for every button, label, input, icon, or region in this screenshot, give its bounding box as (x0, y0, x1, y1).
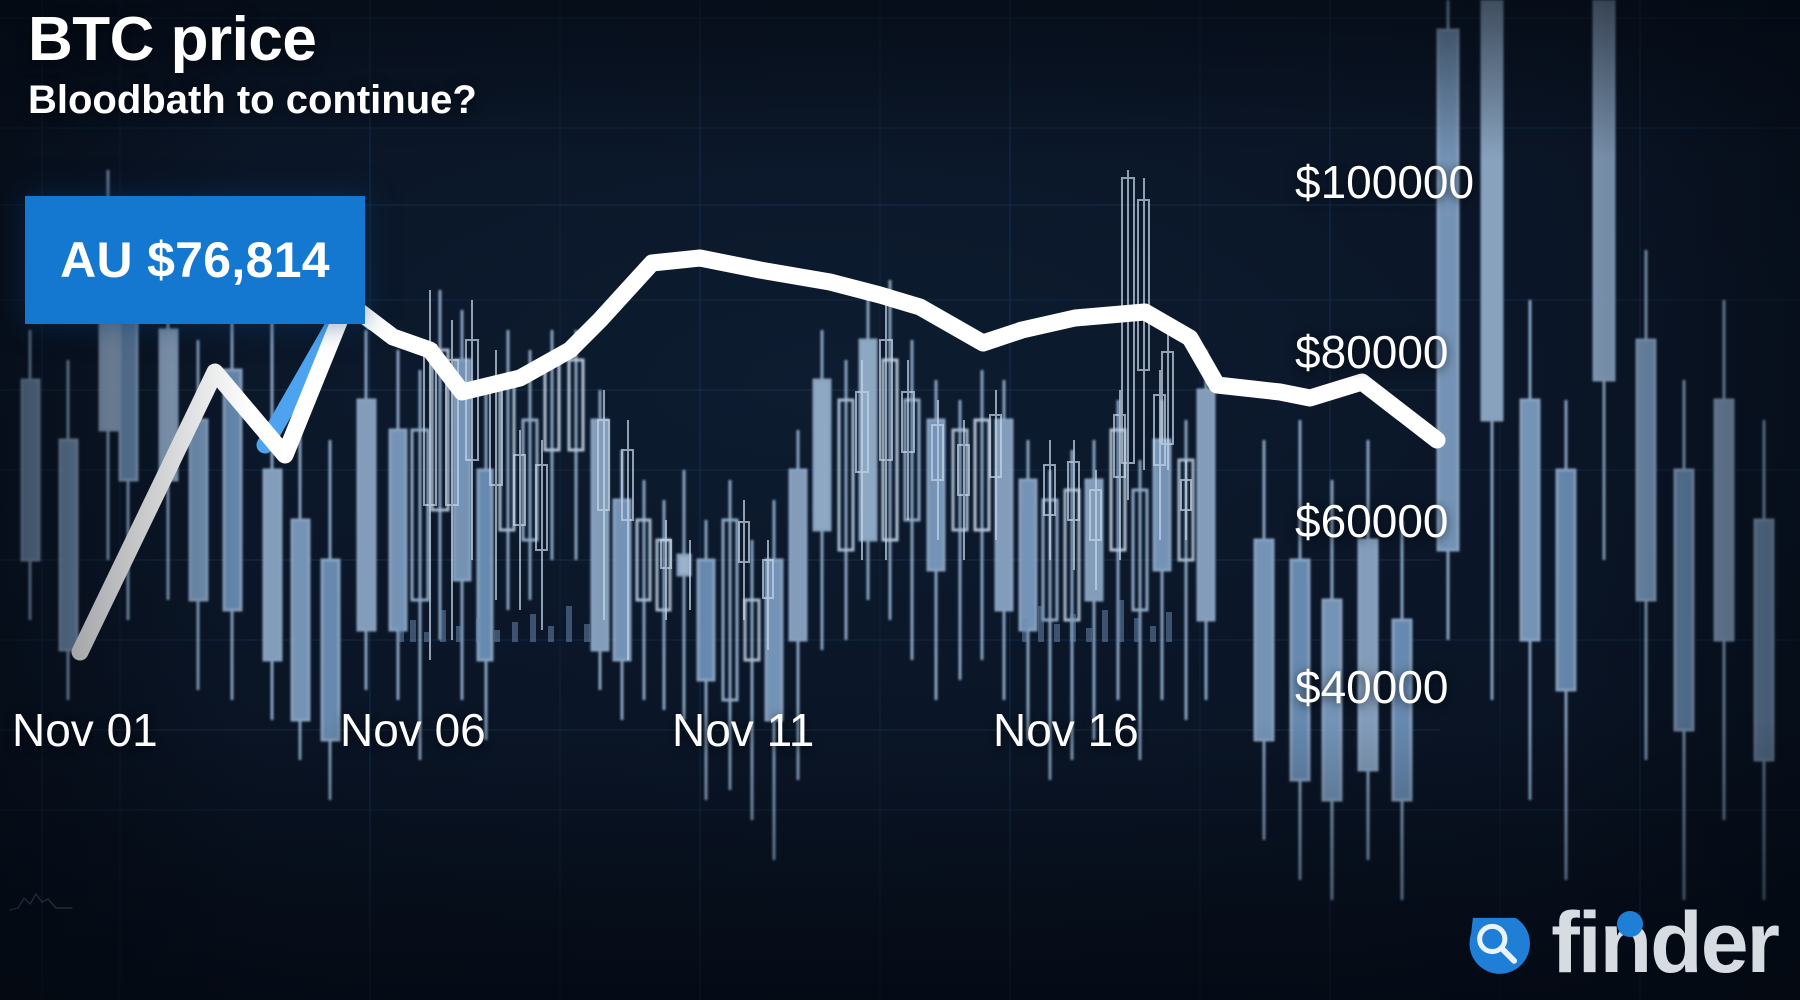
finder-logo: finder (1457, 902, 1778, 986)
btc-price-chart-image: BTC price Bloodbath to continue? AU $76,… (0, 0, 1800, 1000)
mini-sparkline-icon (8, 888, 74, 914)
page-subtitle: Bloodbath to continue? (28, 78, 477, 122)
y-axis-label-60000: $60000 (1295, 494, 1449, 548)
y-axis-label-80000: $80000 (1295, 325, 1449, 379)
price-callout-badge: AU $76,814 (25, 196, 365, 324)
price-callout-value: AU $76,814 (60, 231, 330, 289)
x-axis-label-nov-01: Nov 01 (12, 703, 158, 757)
finder-dot-icon (1615, 909, 1645, 939)
finder-wordmark-text: finder (1551, 895, 1778, 991)
y-axis-label-40000: $40000 (1295, 660, 1449, 714)
page-title: BTC price (28, 8, 477, 72)
x-axis-label-nov-11: Nov 11 (672, 703, 814, 757)
x-axis-label-nov-16: Nov 16 (993, 703, 1139, 757)
finder-wordmark: finder (1551, 903, 1778, 985)
x-axis-label-nov-06: Nov 06 (340, 703, 486, 757)
y-axis-label-100000: $100000 (1295, 155, 1474, 209)
btc-price-line (0, 0, 1800, 1000)
title-block: BTC price Bloodbath to continue? (28, 8, 477, 122)
magnifier-droplet-icon (1457, 902, 1541, 986)
